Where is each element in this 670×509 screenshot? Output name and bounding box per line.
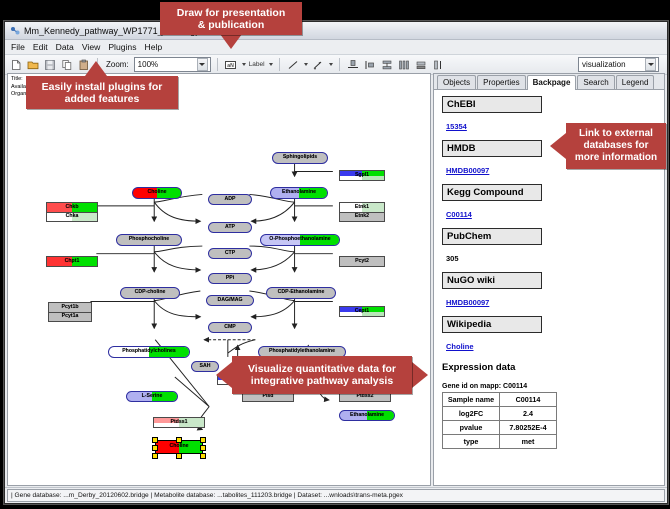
expr-value: 2.4 [500,407,557,421]
chevron-down-icon[interactable] [197,58,208,71]
metabolite-node[interactable]: Sphingolipids [272,152,328,164]
selection-handle[interactable] [152,437,158,443]
node-label: L-Serine [142,394,163,399]
draw-callout-line1: Draw for presentation [177,7,286,19]
copy-icon[interactable] [60,58,74,72]
interaction-icon[interactable] [311,58,325,72]
datanode-dropdown-icon[interactable] [242,63,246,66]
node-label: CDP-choline [135,290,166,295]
expr-value: 7.80252E-4 [500,421,557,435]
menu-file[interactable]: File [11,42,25,52]
size-width-icon[interactable] [414,58,428,72]
node-label: Choline [147,190,166,195]
visualization-combo[interactable]: visualization [578,57,659,72]
visualize-callout-arrow-left [216,362,232,388]
metabolite-node[interactable]: CMP [208,322,252,333]
save-icon[interactable] [43,58,57,72]
pathway-canvas[interactable]: Title: Availab Organis [7,73,431,486]
gene-node[interactable]: Etnk2 [339,212,385,222]
line-icon[interactable] [286,58,300,72]
draw-callout: Draw for presentation & publication [160,2,302,35]
db-link-hmdb[interactable]: HMDB00097 [446,166,489,175]
visualization-chevron-icon[interactable] [645,58,656,71]
node-label: Ethanolamine [282,190,316,195]
db-link-chebi[interactable]: 15354 [446,122,467,131]
node-label: Chka [66,214,79,219]
table-row: Sample name C00114 [443,393,557,407]
node-label: Pcyt1b [61,305,78,310]
screenshot-root: Mm_Kennedy_pathway_WP1771_45176.gpml Fil… [0,0,670,509]
node-label: Sphingolipids [283,155,317,160]
datanode-icon[interactable]: aN [224,58,238,72]
open-folder-icon[interactable] [26,58,40,72]
table-row: log2FC 2.4 [443,407,557,421]
db-link-wikipedia[interactable]: Choline [446,342,474,351]
expression-table: Sample name C00114 log2FC 2.4 pvalue 7.8… [442,392,557,449]
node-label: O-Phosphoethanolamine [269,237,330,242]
align-top-icon[interactable] [346,58,360,72]
label-dropdown-icon[interactable] [269,63,273,66]
expr-key: log2FC [443,407,500,421]
db-header-hmdb: HMDB [442,140,542,157]
visualize-callout: Visualize quantitative data for integrat… [232,356,412,394]
node-label: Pcyt2 [355,259,369,264]
node-label: CMP [224,325,236,330]
metabolite-node[interactable]: Phosphocholine [116,234,182,246]
label-dropdown-label: Label [249,61,265,68]
metabolite-node[interactable]: CDP-Ethanolamine [266,287,336,299]
tab-objects[interactable]: Objects [437,75,476,89]
line-dropdown-icon[interactable] [304,63,308,66]
db-header-pubchem: PubChem [442,228,542,245]
node-label: Phosphocholine [129,237,169,242]
selection-handle[interactable] [152,453,158,459]
gene-node[interactable]: Chka [46,212,98,222]
node-label: Choline [169,444,188,449]
node-label: Phosphatidylethanolamine [269,349,335,354]
zoom-value: 100% [138,60,158,69]
node-label: Phosphatidylcholines [122,349,176,354]
node-label: Etnk2 [355,214,369,219]
node-label: Cept1 [355,309,369,314]
gene-node[interactable]: Pcyt1a [48,312,92,322]
plugins-callout-line2: added features [42,93,163,105]
node-label: ATP [225,225,235,230]
node-label: Chkb [66,205,79,210]
selection-handle[interactable] [152,445,158,451]
selection-handle[interactable] [176,437,182,443]
tab-backpage[interactable]: Backpage [527,75,577,90]
visualize-callout-line1: Visualize quantitative data for [248,363,396,375]
node-label: Ptdss1 [170,420,187,425]
selection-handle[interactable] [200,437,206,443]
statusbar-text: | Gene database: ...m_Derby_20120602.bri… [7,489,665,502]
gene-node[interactable]: Sgpl1 [339,170,385,181]
gene-node[interactable]: Etnk1 [339,202,385,212]
metabolite-node[interactable]: O-Phosphoethanolamine [260,234,340,246]
metabolite-node[interactable]: Phosphatidylcholines [108,346,190,358]
gene-id-line: Gene id on mapp: C00114 [442,383,664,390]
expr-key: type [443,435,500,449]
new-icon[interactable] [9,58,23,72]
node-label: DAG/MAG [217,298,242,303]
node-label: Etnk1 [355,205,369,210]
visualize-callout-arrow-right [412,362,428,388]
links-callout-line1: Link to external [575,128,657,140]
gene-node[interactable]: Chkb [46,202,98,212]
expr-key: Sample name [443,393,500,407]
tab-search[interactable]: Search [577,75,614,89]
tab-legend[interactable]: Legend [616,75,655,89]
plugins-callout-line1: Easily install plugins for [42,81,163,93]
expr-key: pvalue [443,421,500,435]
selection-handle[interactable] [200,445,206,451]
node-label: Ethanolamine [350,413,384,418]
zoom-label: Zoom: [106,60,129,69]
toolbar-separator-2 [217,58,218,71]
metabolite-node[interactable]: L-Serine [126,391,178,402]
links-callout-line3: more information [575,152,657,164]
side-panel-tabs: Objects Properties Backpage Search Legen… [434,74,664,90]
metabolite-node[interactable]: DAG/MAG [206,295,254,306]
db-header-wikipedia: Wikipedia [442,316,542,333]
stack-vertical-icon[interactable] [380,58,394,72]
interaction-dropdown-icon[interactable] [329,63,333,66]
menubar: File Edit Data View Plugins Help [5,40,667,55]
statusbar: | Gene database: ...m_Derby_20120602.bri… [5,487,667,503]
metabolite-node[interactable]: Ethanolamine [339,410,395,421]
menu-edit[interactable]: Edit [33,42,48,52]
metabolite-node[interactable]: Ethanolamine [270,187,328,199]
links-callout-line2: databases for [575,140,657,152]
metabolite-node[interactable]: PPi [208,273,252,284]
selection-handle[interactable] [200,453,206,459]
size-height-icon[interactable] [431,58,445,72]
toolbar-separator-4 [339,58,340,71]
visualization-value: visualization [582,60,626,69]
metabolite-node[interactable]: SAH [191,361,219,372]
db-value-pubchem: 305 [446,254,459,263]
tab-properties[interactable]: Properties [477,75,525,89]
node-label: Ptdss2 [356,394,373,399]
node-label: CTP [225,251,235,256]
node-label: ADP [225,197,236,202]
node-label: Pisd [263,394,274,399]
db-link-kegg[interactable]: C00114 [446,210,472,219]
draw-callout-arrow [220,34,242,49]
node-label: CDP-Ethanolamine [278,290,325,295]
db-header-chebi: ChEBI [442,96,542,113]
menu-plugins[interactable]: Plugins [108,42,136,52]
db-link-nugo[interactable]: HMDB00097 [446,298,489,307]
metabolite-node[interactable]: ATP [208,222,252,233]
align-left-icon[interactable] [363,58,377,72]
gene-node[interactable]: Ptdss1 [153,417,205,428]
node-label: Pcyt1a [62,314,79,319]
pathvisio-app-icon [10,26,20,36]
node-label: Sgpl1 [355,173,369,178]
gene-node[interactable]: Chpt1 [46,256,98,267]
plugins-callout: Easily install plugins for added feature… [26,76,178,109]
links-callout: Link to external databases for more info… [566,123,666,169]
zoom-combo[interactable]: 100% [134,57,211,72]
window-titlebar: Mm_Kennedy_pathway_WP1771_45176.gpml [5,22,667,40]
table-row: pvalue 7.80252E-4 [443,421,557,435]
db-header-nugo: NuGO wiki [442,272,542,289]
draw-callout-line2: & publication [177,19,286,31]
metabolite-node[interactable]: CDP-choline [120,287,180,299]
gene-node[interactable]: Cept1 [339,306,385,317]
gene-node[interactable]: Pcyt1b [48,302,92,312]
distribute-icon[interactable] [397,58,411,72]
visualize-callout-line2: integrative pathway analysis [248,375,396,387]
metabolite-node[interactable]: ADP [208,194,252,205]
svg-text:aN: aN [227,63,234,69]
menu-help[interactable]: Help [145,42,163,52]
node-label: PPi [226,276,234,281]
menu-data[interactable]: Data [56,42,74,52]
expr-value: met [500,435,557,449]
expression-data-heading: Expression data [442,362,664,373]
node-label: SAH [200,364,211,369]
plugins-callout-arrow [85,61,107,76]
metabolite-node[interactable]: Choline [132,187,182,199]
metabolite-node[interactable]: CTP [208,248,252,259]
table-row: type met [443,435,557,449]
expr-value: C00114 [500,393,557,407]
gene-node[interactable]: Pcyt2 [339,256,385,267]
db-header-kegg: Kegg Compound [442,184,542,201]
node-label: Chpt1 [65,259,80,264]
links-callout-arrow [550,133,566,159]
menu-view[interactable]: View [82,42,100,52]
selection-handle[interactable] [176,453,182,459]
toolbar-separator-3 [279,58,280,71]
